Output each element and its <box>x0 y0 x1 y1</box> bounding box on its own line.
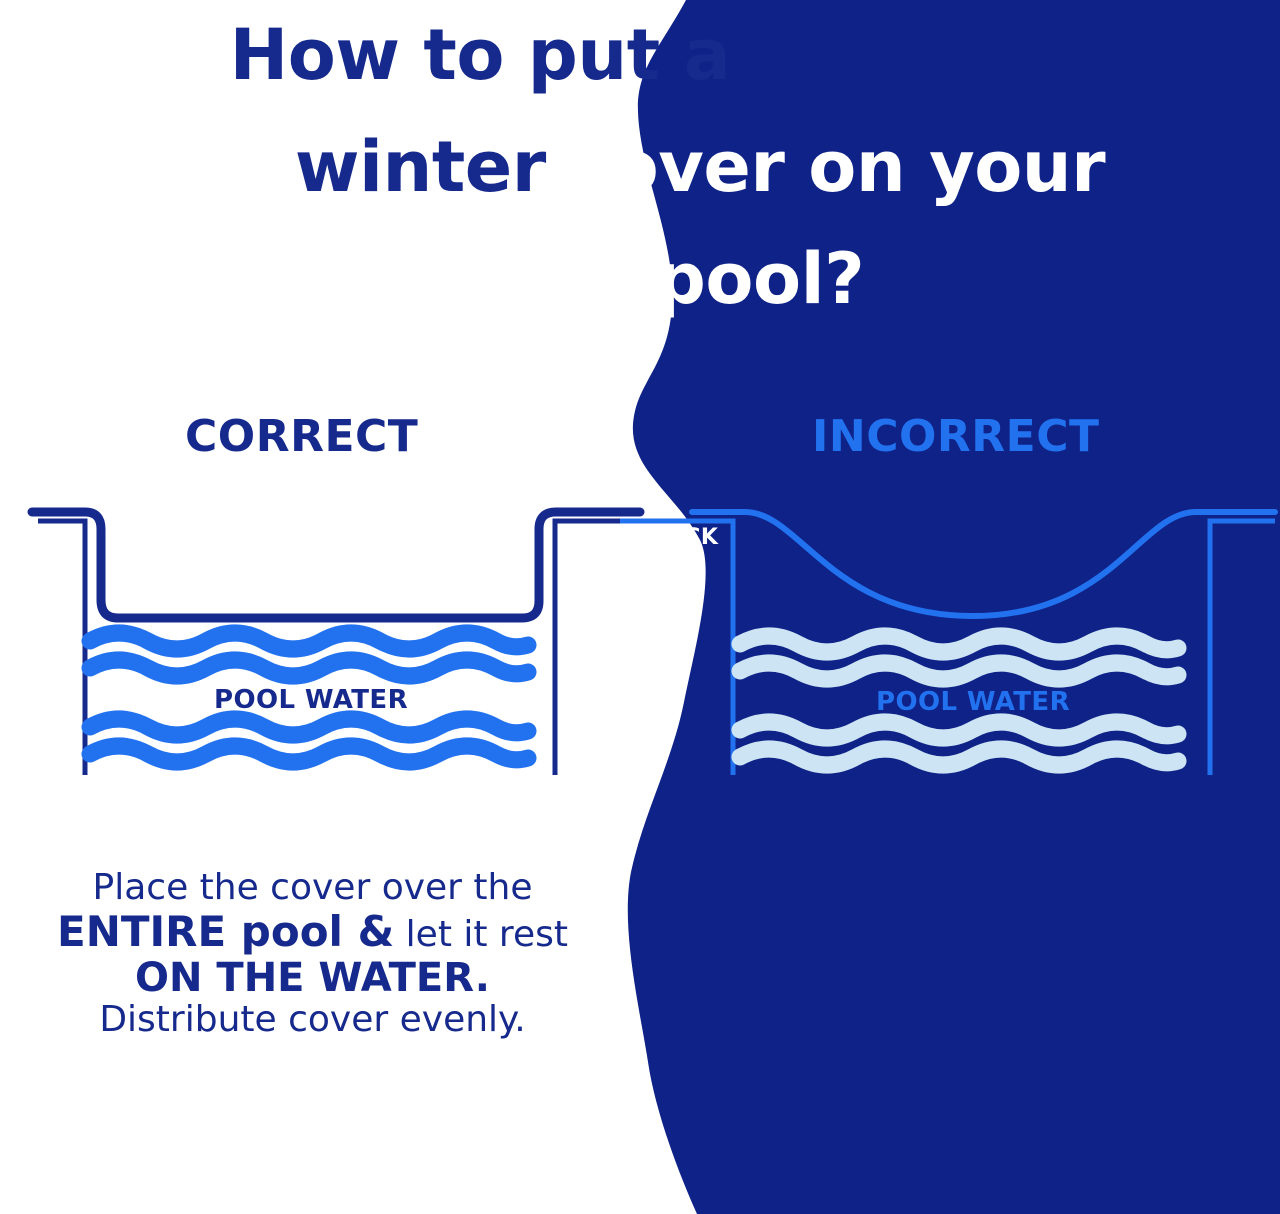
wave-line <box>740 749 1178 765</box>
correct-pool-wall-left <box>38 521 85 775</box>
wave-line <box>90 719 528 735</box>
wave-line <box>90 660 528 676</box>
wave-line <box>740 663 1178 679</box>
infographic-root: How to put a winter cover on your pool? … <box>0 0 1280 1214</box>
incorrect-pool-wall-right <box>1210 521 1275 775</box>
incorrect-pool-diagram <box>620 512 1275 775</box>
deck-label: DECK <box>650 525 718 550</box>
incorrect-pool-wall-left <box>620 521 733 775</box>
correct-pool-wall-right <box>555 521 640 775</box>
caption-line-2-rest: let it rest <box>394 914 568 955</box>
correct-pool-diagram <box>32 512 640 775</box>
caption-line-1: Place the cover over the <box>0 868 625 908</box>
caption-line-3: ON THE WATER. <box>0 956 625 1001</box>
incorrect-sagging-cover <box>692 512 1275 616</box>
wave-line <box>740 636 1178 652</box>
correct-winter-cover <box>32 512 640 618</box>
wave-line <box>90 746 528 762</box>
caption-line-2-strong: ENTIRE pool & <box>57 907 394 956</box>
wave-line <box>740 722 1178 738</box>
pool-water-label-correct: POOL WATER <box>214 685 408 715</box>
pool-water-label-incorrect: POOL WATER <box>876 687 1070 717</box>
caption-line-2: ENTIRE pool & let it rest <box>0 908 625 955</box>
instruction-caption: Place the cover over the ENTIRE pool & l… <box>0 868 625 1041</box>
caption-line-4: Distribute cover evenly. <box>0 1000 625 1040</box>
wave-line <box>90 633 528 649</box>
